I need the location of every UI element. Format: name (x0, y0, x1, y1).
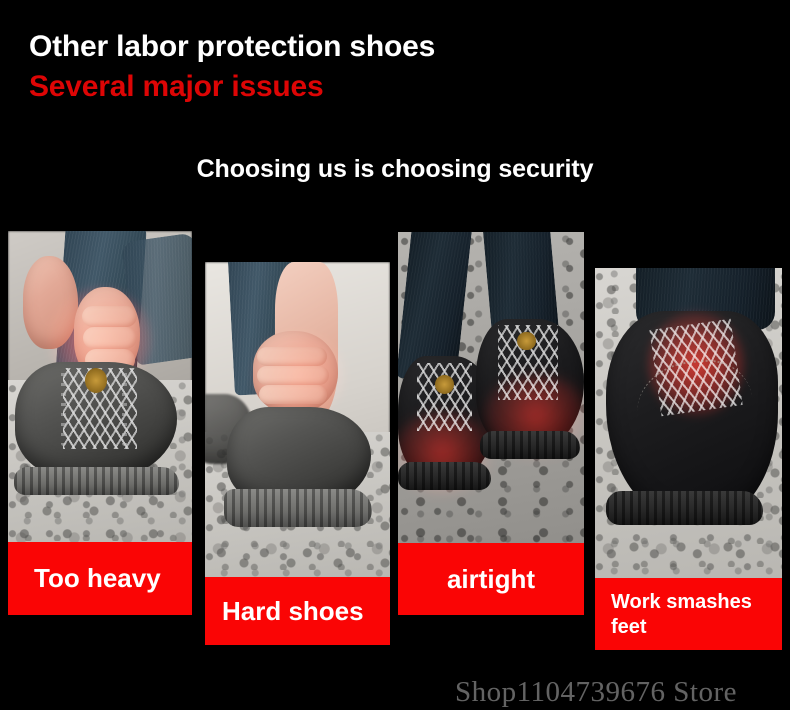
photo-person-gripping-ankle (8, 231, 192, 542)
issue-panel-hard-shoes: Hard shoes (205, 262, 390, 645)
photo-rear-boot-sore-ankle (205, 262, 390, 577)
issue-panel-airtight: airtight (398, 232, 584, 615)
panel-caption-work-smashes-feet: Work smashes feet (595, 578, 782, 650)
page-title-line-2: Several major issues (29, 68, 749, 106)
panel-caption-hard-shoes: Hard shoes (205, 577, 390, 645)
page-subtitle: Choosing us is choosing security (0, 155, 790, 184)
issue-panel-work-smashes-feet: Work smashes feet (595, 268, 782, 650)
panel-caption-too-heavy: Too heavy (8, 542, 192, 615)
photo-closeup-boot-toe-red-glow (595, 268, 782, 578)
photo-pair-of-boots-hot-toes (398, 232, 584, 543)
panel-caption-airtight: airtight (398, 543, 584, 615)
issue-panel-too-heavy: Too heavy (8, 231, 192, 615)
header-text-block: Other labor protection shoes Several maj… (29, 28, 749, 106)
page-title-line-1: Other labor protection shoes (29, 28, 749, 66)
store-watermark: Shop1104739676 Store (455, 676, 737, 709)
